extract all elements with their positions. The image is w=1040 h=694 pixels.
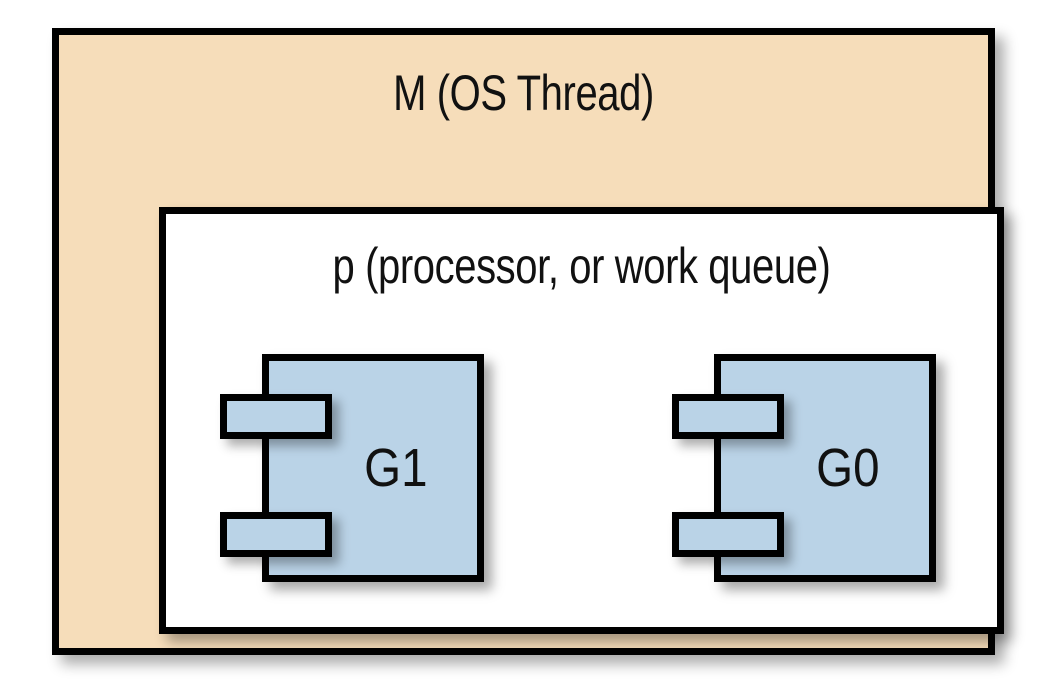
component-tab-top-icon	[220, 394, 332, 439]
goroutine-label: G0	[733, 439, 916, 497]
os-thread-box: M (OS Thread) p (processor, or work queu…	[52, 28, 995, 655]
processor-label: p (processor, or work queue)	[249, 238, 914, 294]
component-tab-top-icon	[672, 394, 784, 439]
os-thread-label: M (OS Thread)	[152, 65, 895, 121]
goroutine-component-g1: G1	[212, 354, 484, 582]
diagram-canvas: M (OS Thread) p (processor, or work queu…	[0, 0, 1040, 694]
component-tab-bottom-icon	[672, 512, 784, 557]
goroutine-label: G1	[281, 439, 464, 497]
processor-box: p (processor, or work queue) G1 G0	[159, 207, 1004, 634]
goroutine-component-g0: G0	[664, 354, 936, 582]
component-tab-bottom-icon	[220, 512, 332, 557]
